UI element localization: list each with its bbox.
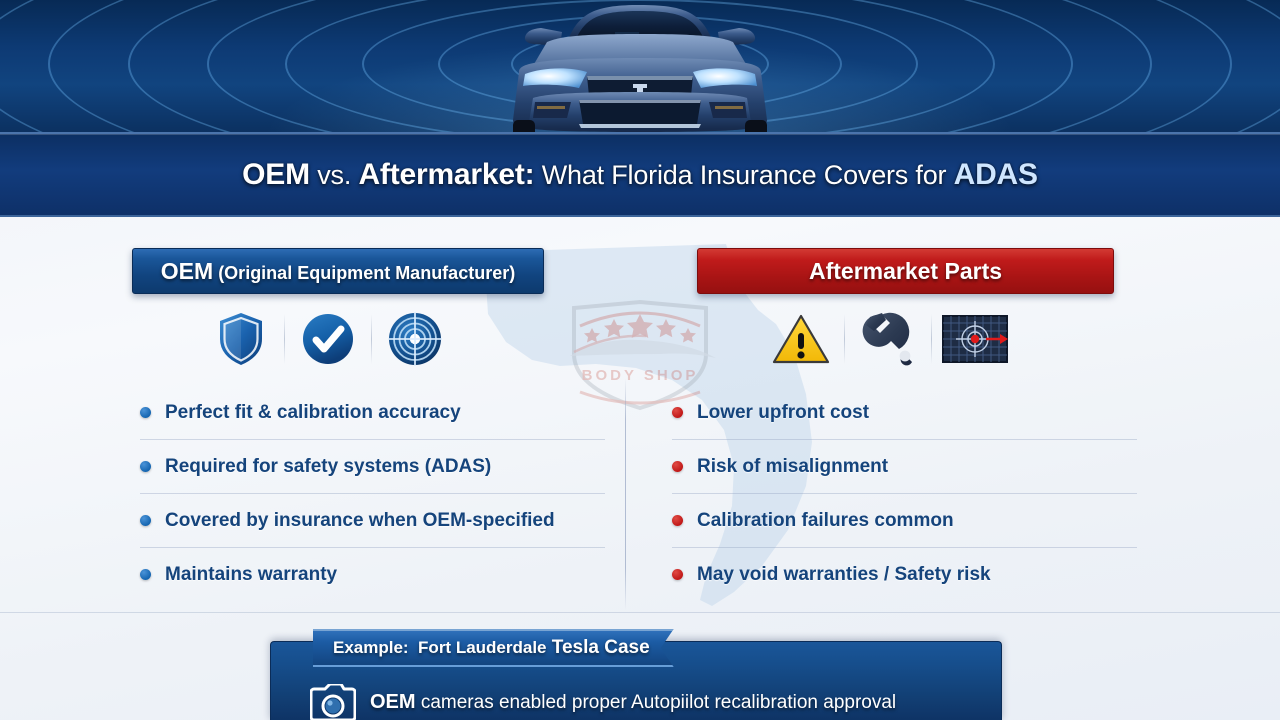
column-divider <box>625 378 626 610</box>
misaligned-radar-grid-icon <box>932 306 1018 372</box>
list-item-label: Required for safety systems (ADAS) <box>165 456 491 478</box>
bullet-dot-icon <box>140 515 151 526</box>
title-part-subtitle: What Florida Insurance Covers for <box>542 160 947 190</box>
example-body-line: OEM cameras enabled proper Autopiilot re… <box>310 684 896 720</box>
shield-icon <box>198 306 284 372</box>
bullet-dot-icon <box>140 461 151 472</box>
title-part-oem: OEM <box>242 158 310 191</box>
car-front-icon <box>475 2 805 136</box>
example-ribbon: Example: Fort Lauderdale Tesla Case <box>313 629 674 667</box>
bullet-dot-icon <box>140 407 151 418</box>
list-item: Required for safety systems (ADAS) <box>140 440 605 494</box>
section-divider <box>0 612 1280 613</box>
list-item: Lower upfront cost <box>672 386 1137 440</box>
check-circle-icon <box>285 306 371 372</box>
watermark-brand-text: BODY SHOP <box>582 367 699 384</box>
oem-header-rest: (Original Equipment Manufacturer) <box>218 263 515 283</box>
list-item: May void warranties / Safety risk <box>672 548 1137 601</box>
list-item-label: Maintains warranty <box>165 564 337 586</box>
list-item-label: Risk of misalignment <box>697 456 888 478</box>
list-item-label: Perfect fit & calibration accuracy <box>165 402 461 424</box>
aftermarket-header-strong: Aftermarket Parts <box>809 258 1002 284</box>
title-part-aftermarket: Aftermarket: <box>358 158 534 191</box>
list-item: Calibration failures common <box>672 494 1137 548</box>
list-item-label: Lower upfront cost <box>697 402 869 424</box>
hero-banner <box>0 0 1280 136</box>
oem-column-header: OEM (Original Equipment Manufacturer) <box>132 248 544 294</box>
list-item: Maintains warranty <box>140 548 605 601</box>
list-item-label: Calibration failures common <box>697 510 954 532</box>
list-item: Covered by insurance when OEM-specified <box>140 494 605 548</box>
camera-icon <box>310 684 356 720</box>
bullet-dot-icon <box>140 569 151 580</box>
list-item-label: Covered by insurance when OEM-specified <box>165 510 555 532</box>
list-item: Risk of misalignment <box>672 440 1137 494</box>
warning-triangle-icon <box>758 306 844 372</box>
bullet-dot-icon <box>672 461 683 472</box>
aftermarket-icon-row <box>758 306 1018 372</box>
bullet-dot-icon <box>672 407 683 418</box>
page-title: OEM vs. Aftermarket: What Florida Insura… <box>242 158 1038 192</box>
ribbon-subject: Tesla Case <box>552 637 650 658</box>
oem-bullet-list: Perfect fit & calibration accuracy Requi… <box>140 386 605 601</box>
oem-header-strong: OEM <box>161 258 213 284</box>
title-part-adas: ADAS <box>954 158 1038 191</box>
aftermarket-bullet-list: Lower upfront cost Risk of misalignment … <box>672 386 1137 601</box>
wrench-icon <box>845 306 931 372</box>
oem-icon-row <box>198 306 458 372</box>
title-part-vs: vs. <box>317 160 351 190</box>
infographic-root: OEM vs. Aftermarket: What Florida Insura… <box>0 0 1280 720</box>
ribbon-prefix: Example: <box>333 638 409 657</box>
radar-target-icon <box>372 306 458 372</box>
ribbon-city: Fort Lauderdale <box>418 638 546 657</box>
example-body-strong: OEM <box>370 691 416 713</box>
aftermarket-column-header: Aftermarket Parts <box>697 248 1114 294</box>
example-body-rest: cameras enabled proper Autopiilot recali… <box>421 692 896 713</box>
list-item: Perfect fit & calibration accuracy <box>140 386 605 440</box>
bullet-dot-icon <box>672 515 683 526</box>
list-item-label: May void warranties / Safety risk <box>697 564 991 586</box>
title-band: OEM vs. Aftermarket: What Florida Insura… <box>0 132 1280 217</box>
bullet-dot-icon <box>672 569 683 580</box>
